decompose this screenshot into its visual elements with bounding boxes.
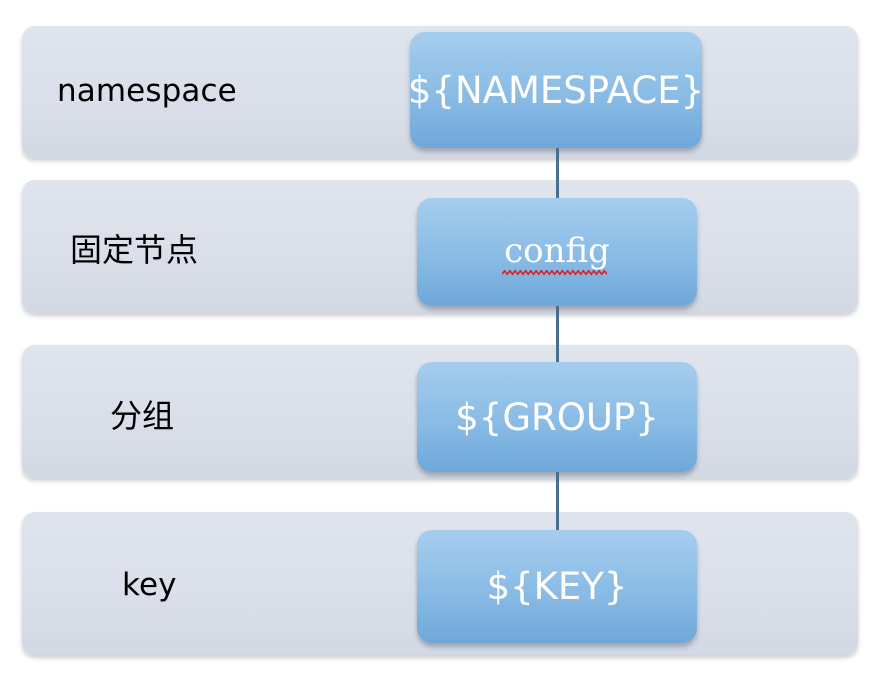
- node-namespace-label: ${NAMESPACE}: [408, 72, 704, 109]
- row-label-key: key: [122, 570, 177, 601]
- node-group[interactable]: ${GROUP}: [417, 362, 697, 472]
- row-label-group: 分组: [110, 400, 174, 432]
- row-label-namespace: namespace: [57, 76, 237, 107]
- node-namespace[interactable]: ${NAMESPACE}: [410, 32, 702, 148]
- node-config-label: config: [504, 231, 610, 271]
- connector-config-to-group: [556, 300, 559, 370]
- node-group-label: ${GROUP}: [455, 399, 659, 436]
- node-config-label-wrapper: config: [504, 234, 610, 271]
- node-key[interactable]: ${KEY}: [417, 530, 697, 643]
- spellcheck-squiggle-icon: [502, 269, 607, 276]
- node-key-label: ${KEY}: [487, 568, 628, 605]
- node-config[interactable]: config: [417, 198, 697, 306]
- row-label-fixed-node: 固定节点: [70, 234, 198, 266]
- connector-group-to-key: [556, 468, 559, 538]
- diagram-canvas: namespace 固定节点 分组 key ${NAMESPACE} confi…: [0, 0, 882, 684]
